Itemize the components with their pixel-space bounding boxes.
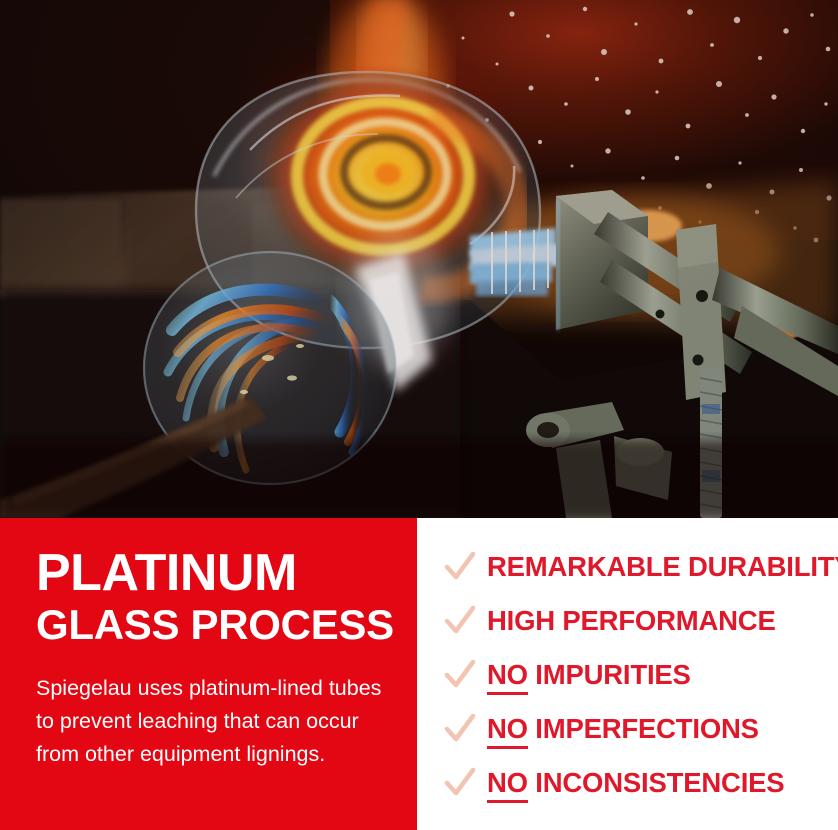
benefit-negation: NO xyxy=(487,714,528,744)
list-item: REMARKABLE DURABILITY xyxy=(444,540,838,594)
benefit-text: HIGH PERFORMANCE xyxy=(487,605,776,636)
benefit-text: INCONSISTENCIES xyxy=(528,767,785,798)
checkmark-icon xyxy=(444,712,476,746)
checkmark-icon xyxy=(444,766,476,800)
platinum-glass-process-panel: PLATINUM GLASS PROCESS Spiegelau uses pl… xyxy=(0,518,417,830)
glassblowing-photo xyxy=(0,0,838,518)
benefit-label: NO INCONSISTENCIES xyxy=(487,768,784,798)
benefit-label: REMARKABLE DURABILITY xyxy=(487,552,838,582)
checkmark-icon xyxy=(444,604,476,638)
benefit-negation: NO xyxy=(487,660,528,690)
benefit-text: REMARKABLE DURABILITY xyxy=(487,551,838,582)
body-line-3: from other equipment lignings. xyxy=(36,738,393,771)
benefit-text: IMPURITIES xyxy=(528,659,691,690)
page-title-line2: GLASS PROCESS xyxy=(36,602,393,648)
body-line-1: Spiegelau uses platinum-lined tubes xyxy=(36,672,393,705)
checkmark-icon xyxy=(444,550,476,584)
checkmark-icon xyxy=(444,658,476,692)
benefit-label: NO IMPURITIES xyxy=(487,660,691,690)
list-item: NO IMPERFECTIONS xyxy=(444,702,838,756)
body-line-2: to prevent leaching that can occur xyxy=(36,705,393,738)
list-item: NO INCONSISTENCIES xyxy=(444,756,838,810)
benefit-label: HIGH PERFORMANCE xyxy=(487,606,776,636)
panel-body-copy: Spiegelau uses platinum-lined tubes to p… xyxy=(36,672,393,771)
benefit-text: IMPERFECTIONS xyxy=(528,713,759,744)
poster-root: PLATINUM GLASS PROCESS Spiegelau uses pl… xyxy=(0,0,838,830)
benefit-negation: NO xyxy=(487,768,528,798)
benefits-list: REMARKABLE DURABILITY HIGH PERFORMANCE N… xyxy=(417,518,838,830)
list-item: HIGH PERFORMANCE xyxy=(444,594,838,648)
list-item: NO IMPURITIES xyxy=(444,648,838,702)
page-title-line1: PLATINUM xyxy=(36,546,393,600)
benefit-label: NO IMPERFECTIONS xyxy=(487,714,759,744)
